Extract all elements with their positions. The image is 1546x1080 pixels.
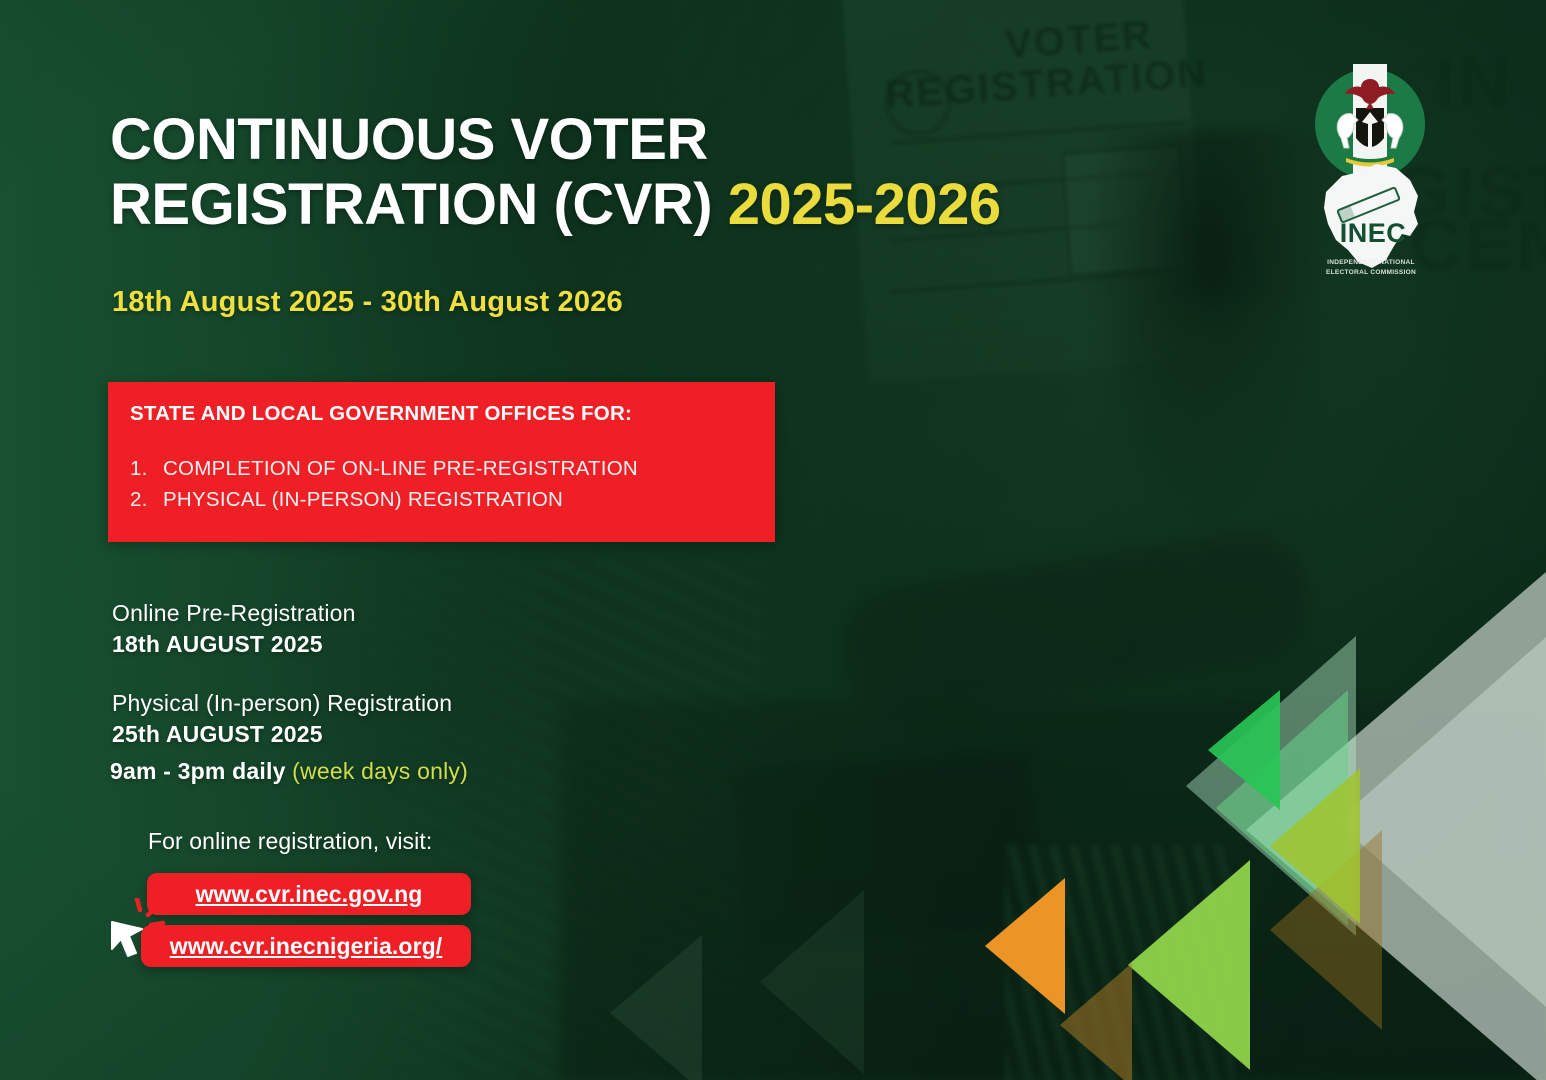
list-item-number: 2. xyxy=(130,485,150,516)
schedule-block: Online Pre-Registration 18th AUGUST 2025… xyxy=(112,598,452,778)
schedule-online: Online Pre-Registration 18th AUGUST 2025 xyxy=(112,598,452,660)
offices-callout-heading: STATE AND LOCAL GOVERNMENT OFFICES FOR: xyxy=(130,402,753,426)
title-years: 2025-2026 xyxy=(728,172,1001,237)
inec-caption-line-2: ELECTORAL COMMISSION xyxy=(1300,268,1442,278)
offices-callout-panel: STATE AND LOCAL GOVERNMENT OFFICES FOR: … xyxy=(108,382,775,542)
list-item: 1. COMPLETION OF ON-LINE PRE-REGISTRATIO… xyxy=(130,454,753,485)
schedule-physical-label: Physical (In-person) Registration xyxy=(112,688,452,719)
list-item-label: COMPLETION OF ON-LINE PRE-REGISTRATION xyxy=(163,454,638,485)
inec-acronym: INEC xyxy=(1340,218,1407,248)
mouse-cursor-icon xyxy=(106,898,168,968)
list-item-label: PHYSICAL (IN-PERSON) REGISTRATION xyxy=(163,485,563,516)
opening-hours-value: 9am - 3pm daily xyxy=(110,758,286,784)
schedule-physical-date: 25th AUGUST 2025 xyxy=(112,719,452,750)
schedule-online-date: 18th AUGUST 2025 xyxy=(112,629,452,660)
list-item-number: 1. xyxy=(130,454,150,485)
opening-hours-note: (week days only) xyxy=(292,758,468,784)
inec-logo: INEC INDEPENDENT NATIONAL ELECTORAL COMM… xyxy=(1300,62,1442,277)
inec-logo-caption: INDEPENDENT NATIONAL ELECTORAL COMMISSIO… xyxy=(1300,258,1442,278)
inec-caption-line-1: INDEPENDENT NATIONAL xyxy=(1300,258,1442,268)
cvr-poster: VOTER REGISTRATION IN GISTR CEN xyxy=(0,0,1546,1080)
title-line-2: REGISTRATION (CVR) xyxy=(110,172,712,237)
link-cvr-inecnigeria-org[interactable]: www.cvr.inecnigeria.org/ xyxy=(141,925,471,967)
page-title: CONTINUOUS VOTER REGISTRATION (CVR) 2025… xyxy=(110,108,1230,238)
list-item: 2. PHYSICAL (IN-PERSON) REGISTRATION xyxy=(130,485,753,516)
visit-label: For online registration, visit: xyxy=(148,828,432,855)
opening-hours: 9am - 3pm daily (week days only) xyxy=(110,758,468,785)
date-range-subtitle: 18th August 2025 - 30th August 2026 xyxy=(112,286,623,319)
schedule-physical: Physical (In-person) Registration 25th A… xyxy=(112,688,452,750)
title-line-1: CONTINUOUS VOTER xyxy=(110,107,708,172)
schedule-online-label: Online Pre-Registration xyxy=(112,598,452,629)
link-cvr-inec-gov-ng[interactable]: www.cvr.inec.gov.ng xyxy=(147,873,471,915)
poster-content: CONTINUOUS VOTER REGISTRATION (CVR) 2025… xyxy=(0,0,1546,1080)
offices-callout-list: 1. COMPLETION OF ON-LINE PRE-REGISTRATIO… xyxy=(130,454,753,516)
